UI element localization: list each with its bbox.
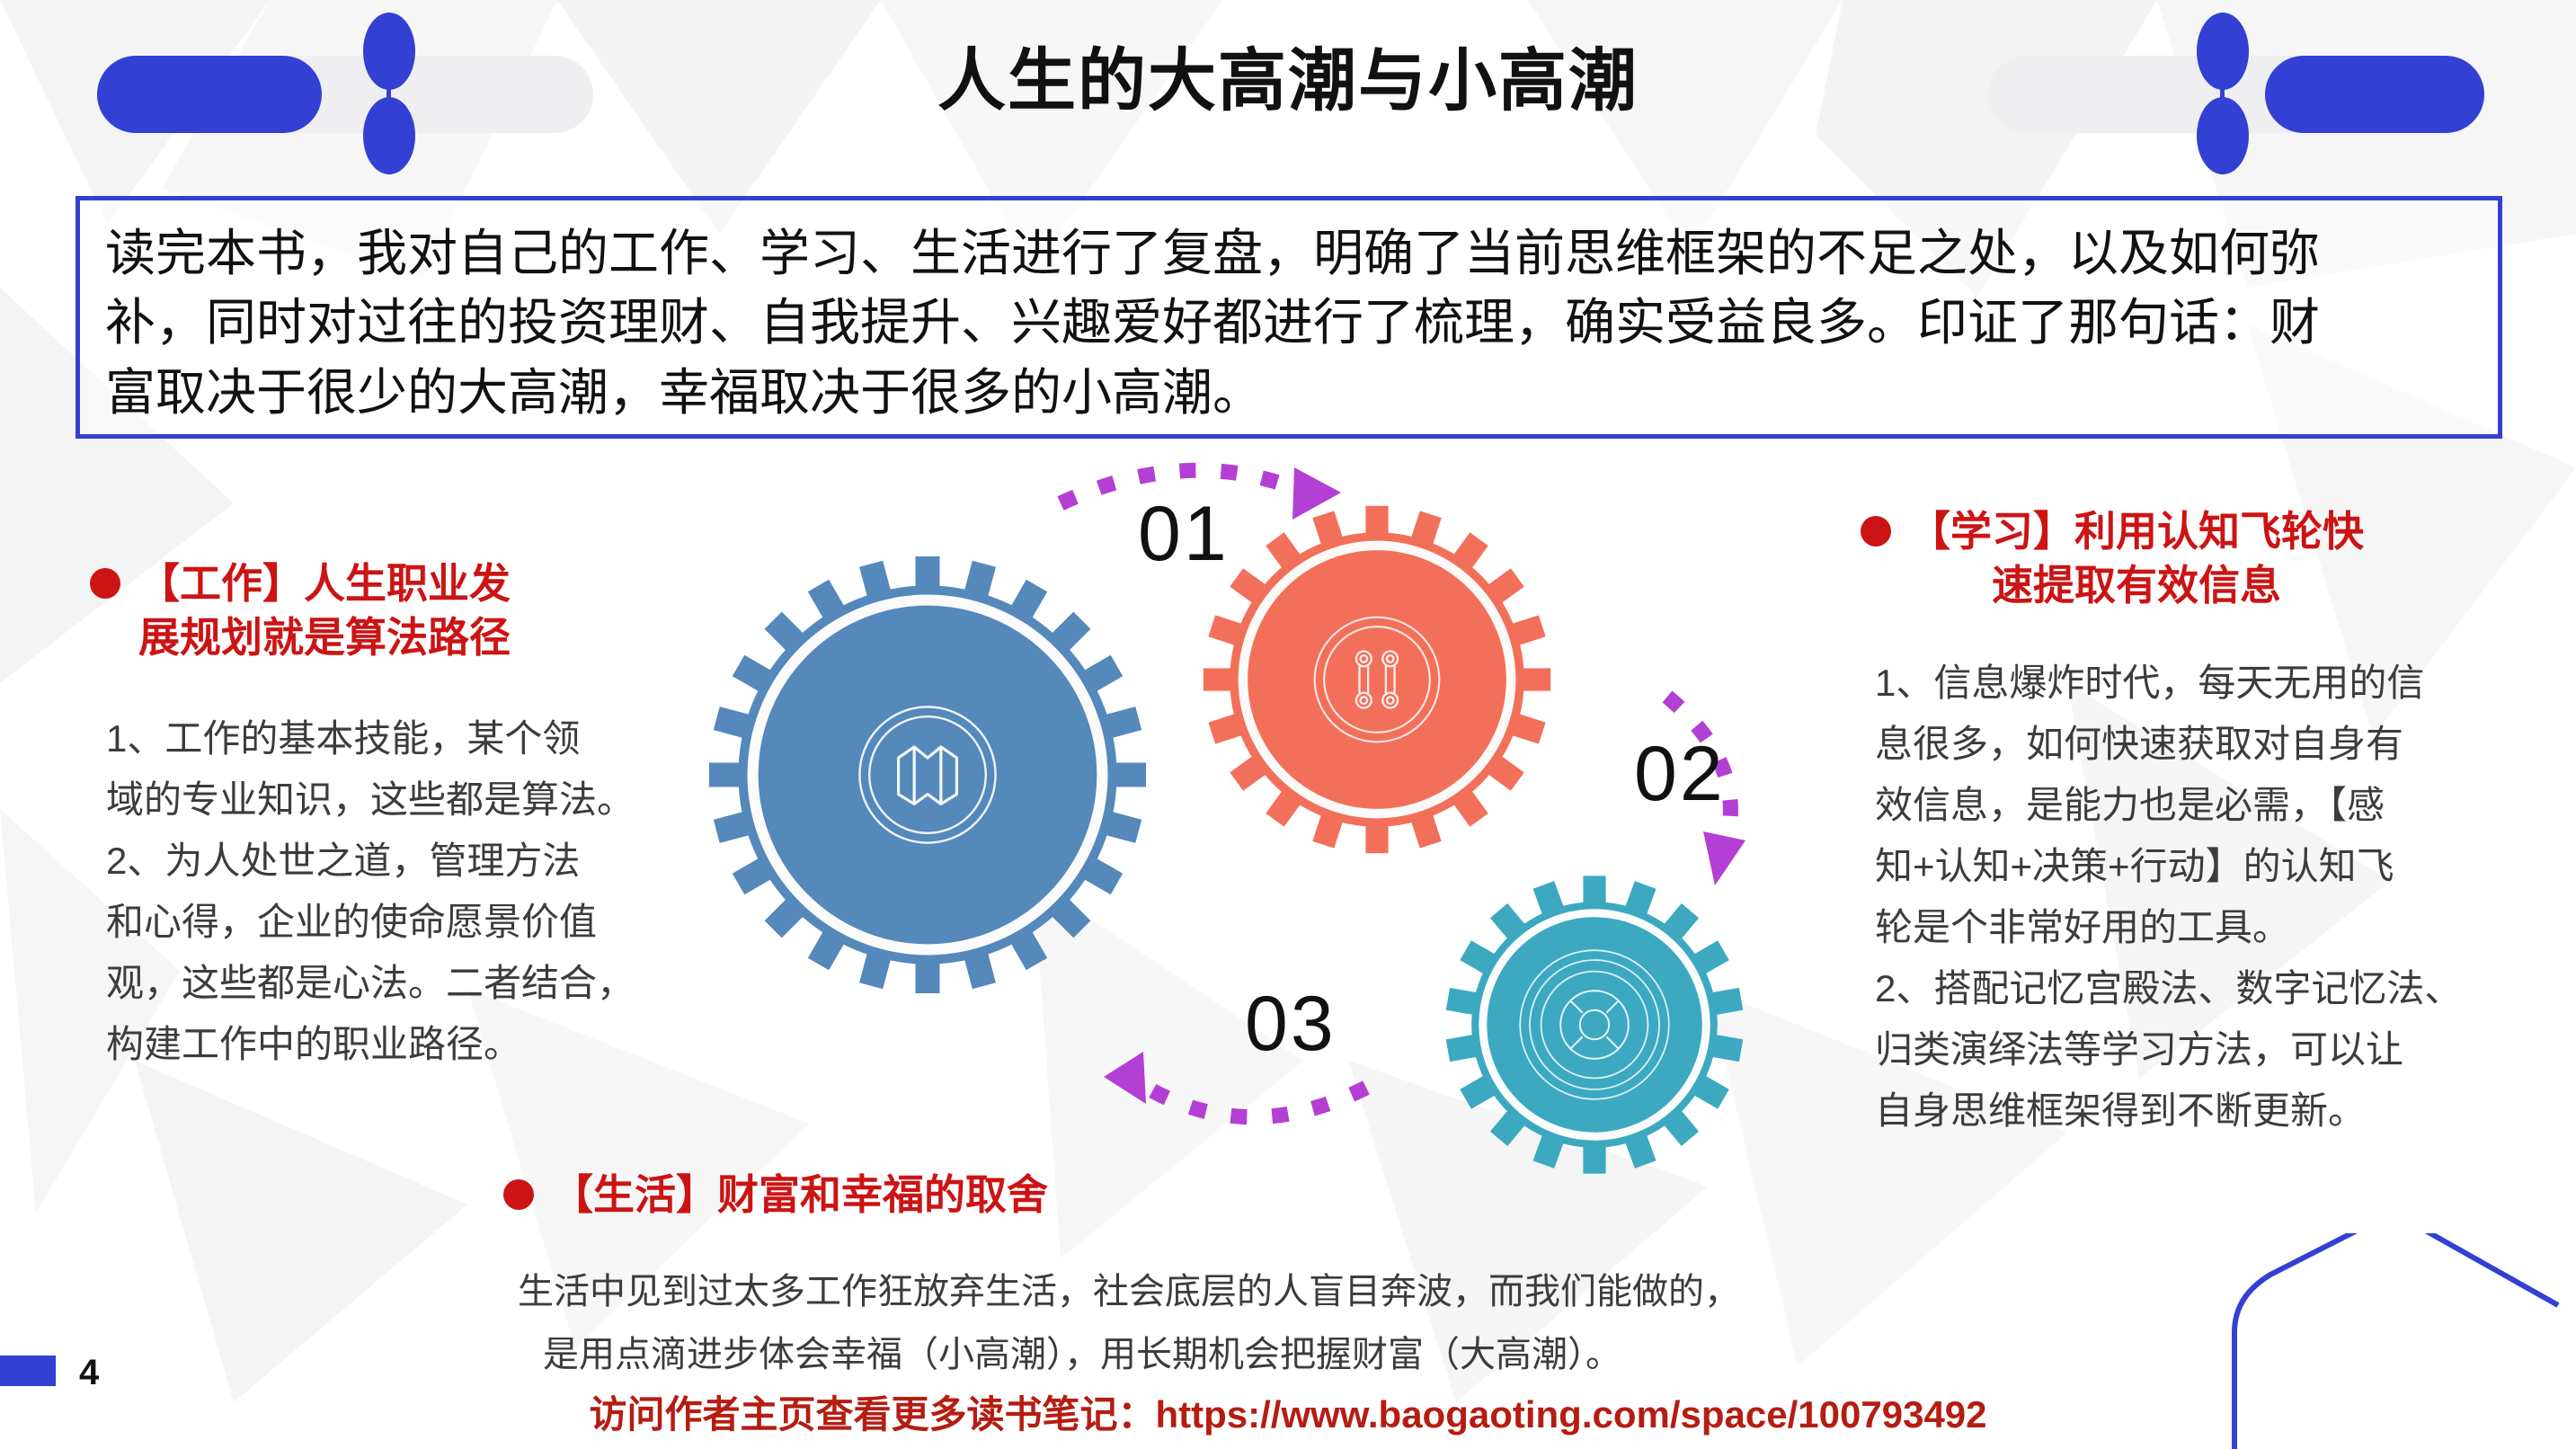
life-heading: 【生活】财富和幸福的取舍 <box>503 1169 1941 1222</box>
study-body-line-8: 自身思维框架得到不断更新。 <box>1875 1080 2544 1142</box>
work-heading: 【工作】人生职业发 展规划就是算法路径 <box>90 557 665 665</box>
study-body-line-3: 效信息，是能力也是必需，【感 <box>1875 775 2544 836</box>
study-body-line-2: 息很多，如何快速获取对自身有 <box>1875 714 2544 775</box>
arrow-01-head <box>1292 467 1341 520</box>
author-homepage-link[interactable]: 访问作者主页查看更多读书笔记：https://www.baogaoting.co… <box>0 1384 2576 1439</box>
study-bullet-icon <box>1861 516 1891 547</box>
step-number-03: 03 <box>1245 980 1337 1069</box>
study-body-line-6: 2、搭配记忆宫殿法、数字记忆法、 <box>1875 958 2544 1019</box>
work-body-line-2: 域的专业知识，这些都是算法。 <box>106 769 665 831</box>
work-body-line-4: 和心得，企业的使命愿景价值 <box>106 892 665 953</box>
work-column: 【工作】人生职业发 展规划就是算法路径 1、工作的基本技能，某个领 域的专业知识… <box>90 557 665 1075</box>
life-heading-text: 【生活】财富和幸福的取舍 <box>552 1169 1048 1222</box>
study-column: 【学习】利用认知飞轮快 速提取有效信息 1、信息爆炸时代，每天无用的信 息很多，… <box>1861 505 2544 1142</box>
step-number-01: 01 <box>1138 490 1230 579</box>
study-body-line-5: 轮是个非常好用的工具。 <box>1875 897 2544 958</box>
study-body: 1、信息爆炸时代，每天无用的信 息很多，如何快速获取对自身有 效信息，是能力也是… <box>1875 653 2544 1142</box>
page-number-chip <box>0 1356 56 1386</box>
study-heading-line-1: 【学习】利用认知飞轮快 <box>1909 505 2364 559</box>
step-number-02: 02 <box>1634 730 1726 819</box>
study-body-line-4: 知+认知+决策+行动】的认知飞 <box>1875 836 2544 897</box>
work-body-line-6: 构建工作中的职业路径。 <box>106 1014 665 1075</box>
life-body-line-1: 生活中见到过太多工作狂放弃生活，社会底层的人盲目奔波，而我们能做的， <box>518 1260 1941 1323</box>
work-body-line-3: 2、为人处世之道，管理方法 <box>106 831 665 892</box>
study-body-line-1: 1、信息爆炸时代，每天无用的信 <box>1875 653 2544 714</box>
work-heading-line-1: 【工作】人生职业发 <box>138 557 511 611</box>
work-body-line-5: 观，这些都是心法。二者结合， <box>106 953 665 1014</box>
work-heading-line-2: 展规划就是算法路径 <box>138 611 511 665</box>
work-body: 1、工作的基本技能，某个领 域的专业知识，这些都是算法。 2、为人处世之道，管理… <box>106 708 665 1075</box>
work-bullet-icon <box>90 568 120 599</box>
work-body-line-1: 1、工作的基本技能，某个领 <box>106 708 665 769</box>
arrow-03-path <box>1133 1079 1366 1117</box>
life-body-line-2: 是用点滴进步体会幸福（小高潮），用长期机会把握财富（大高潮）。 <box>543 1323 1941 1386</box>
arrow-03-head <box>1104 1052 1146 1104</box>
study-body-line-7: 归类演绎法等学习方法，可以让 <box>1875 1019 2544 1080</box>
life-body: 生活中见到过太多工作狂放弃生活，社会底层的人盲目奔波，而我们能做的， 是用点滴进… <box>518 1260 1941 1386</box>
study-heading: 【学习】利用认知飞轮快 速提取有效信息 <box>1861 505 2544 613</box>
life-column: 【生活】财富和幸福的取舍 生活中见到过太多工作狂放弃生活，社会底层的人盲目奔波，… <box>503 1169 1941 1386</box>
study-heading-line-2: 速提取有效信息 <box>1909 559 2364 613</box>
arrow-02-head <box>1703 831 1745 885</box>
life-bullet-icon <box>503 1179 534 1210</box>
